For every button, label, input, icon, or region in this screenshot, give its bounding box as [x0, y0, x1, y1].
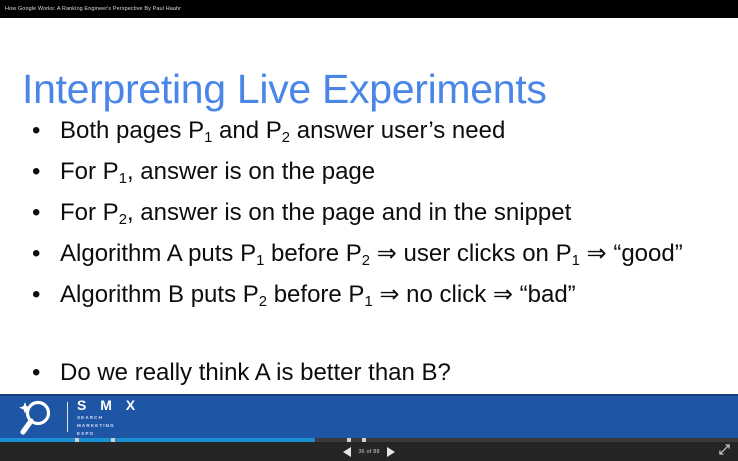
bullet-text: Do we really think A is better than B?: [60, 354, 732, 391]
smx-tagline-line1: SEARCH: [77, 415, 140, 421]
bullet-item: •Algorithm B puts P2 before P1 ⇒ no clic…: [22, 276, 732, 317]
progress-marker[interactable]: [362, 438, 366, 442]
progress-marker[interactable]: [347, 438, 351, 442]
next-slide-button[interactable]: [387, 447, 395, 457]
player-control-bar: 36 of 88: [0, 438, 738, 461]
smx-letters: S M X: [77, 397, 140, 413]
smx-tagline-line3: EXPO: [77, 431, 140, 437]
playback-controls: 36 of 88: [0, 443, 738, 460]
progress-marker[interactable]: [111, 438, 115, 442]
bullet-marker: •: [22, 153, 60, 190]
smx-wordmark: S M X SEARCH MARKETING EXPO: [77, 397, 140, 437]
bullet-item: •Both pages P1 and P2 answer user’s need: [22, 112, 732, 153]
slide-counter: 36 of 88: [358, 449, 379, 455]
bullet-marker: •: [22, 354, 60, 391]
logo-divider: [67, 402, 68, 432]
bullet-spacer: [22, 317, 732, 354]
previous-slide-button[interactable]: [343, 447, 351, 457]
smx-footer-band: S M X SEARCH MARKETING EXPO: [0, 394, 738, 438]
bullet-marker: •: [22, 194, 60, 231]
progress-fill: [0, 438, 315, 442]
bullet-text: Algorithm B puts P2 before P1 ⇒ no click…: [60, 276, 732, 317]
progress-marker[interactable]: [75, 438, 79, 442]
smx-tagline-line2: MARKETING: [77, 423, 140, 429]
window-title-bar: How Google Works: A Ranking Engineer's P…: [0, 0, 738, 18]
presentation-viewer: How Google Works: A Ranking Engineer's P…: [0, 0, 738, 461]
window-title: How Google Works: A Ranking Engineer's P…: [0, 6, 181, 12]
bullet-marker: •: [22, 112, 60, 149]
slide-bullet-list: •Both pages P1 and P2 answer user’s need…: [22, 112, 732, 391]
bullet-text: Both pages P1 and P2 answer user’s need: [60, 112, 732, 153]
bullet-item: •Do we really think A is better than B?: [22, 354, 732, 391]
bullet-text: Algorithm A puts P1 before P2 ⇒ user cli…: [60, 235, 732, 276]
bullet-marker: •: [22, 235, 60, 272]
smx-logo: S M X SEARCH MARKETING EXPO: [0, 396, 140, 438]
expand-arrows-icon[interactable]: [719, 444, 730, 455]
bullet-text: For P2, answer is on the page and in the…: [60, 194, 732, 235]
magnifier-sparkle-icon: [18, 397, 60, 437]
slide-title: Interpreting Live Experiments: [22, 66, 547, 113]
progress-scrubber[interactable]: [0, 438, 738, 442]
bullet-item: •For P2, answer is on the page and in th…: [22, 194, 732, 235]
bullet-marker: •: [22, 276, 60, 313]
bullet-item: •For P1, answer is on the page: [22, 153, 732, 194]
bullet-item: •Algorithm A puts P1 before P2 ⇒ user cl…: [22, 235, 732, 276]
slide-canvas[interactable]: Interpreting Live Experiments •Both page…: [0, 18, 738, 438]
bullet-text: For P1, answer is on the page: [60, 153, 732, 194]
